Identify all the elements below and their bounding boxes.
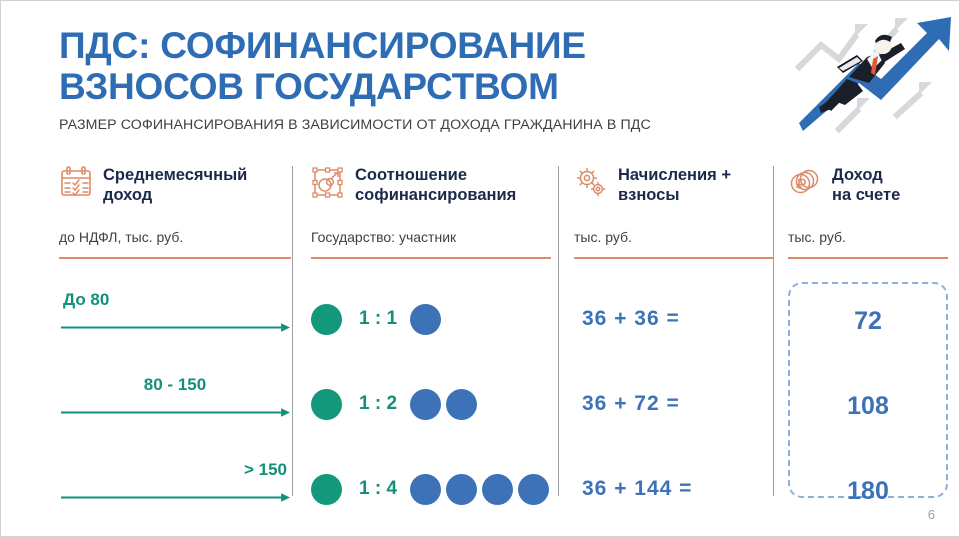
- balance-value: 108: [847, 392, 889, 421]
- balance-value: 72: [854, 307, 882, 336]
- column-balance-title: Доход на счете: [832, 164, 900, 205]
- column-divider-1: [292, 166, 293, 496]
- businessman-on-rising-arrow-illustration: [793, 7, 953, 133]
- column-ratio-header: Соотношение софинансирования: [311, 164, 551, 220]
- column-income-header: Среднемесячный доход: [59, 164, 291, 220]
- column-ratio-rule: [311, 257, 551, 259]
- ratio-label: 1 : 4: [359, 478, 397, 500]
- table-row: 80 - 150: [59, 367, 291, 441]
- contribution-sum: 36 + 36 =: [582, 307, 680, 331]
- income-arrow-icon: [61, 490, 291, 501]
- state-share-dot: [311, 389, 342, 420]
- column-balance-rule: [788, 257, 948, 259]
- column-contributions-header: Начисления + взносы: [574, 164, 774, 220]
- page-number: 6: [928, 507, 935, 522]
- cofinancing-ratio-icon: [311, 165, 345, 199]
- page-title: ПДС: СОФИНАНСИРОВАНИЕ ВЗНОСОВ ГОСУДАРСТВ…: [59, 25, 749, 108]
- state-share-dot: [311, 304, 342, 335]
- participant-share-dot: [410, 304, 441, 335]
- column-contributions: Начисления + взносы тыс. руб. 36 + 36 = …: [574, 164, 774, 498]
- table-row: 36 + 144 =: [574, 452, 774, 526]
- participant-share-dot: [446, 474, 477, 505]
- column-income: Среднемесячный доход до НДФЛ, тыс. руб. …: [59, 164, 291, 498]
- participant-share-dot: [410, 389, 441, 420]
- slide: ПДС: СОФИНАНСИРОВАНИЕ ВЗНОСОВ ГОСУДАРСТВ…: [0, 0, 960, 537]
- income-range-label: > 150: [244, 460, 287, 480]
- participant-share-dot: [446, 389, 477, 420]
- table-row: 1 : 1: [311, 282, 551, 356]
- contribution-sum: 36 + 72 =: [582, 392, 680, 416]
- column-balance-header: Доход на счете: [788, 164, 948, 220]
- column-income-subtitle: до НДФЛ, тыс. руб.: [59, 229, 291, 245]
- ratio-label: 1 : 1: [359, 308, 397, 330]
- income-arrow-icon: [61, 405, 291, 416]
- table-row: До 80: [59, 282, 291, 356]
- column-ratio-subtitle: Государство: участник: [311, 229, 551, 245]
- page-subtitle: РАЗМЕР СОФИНАНСИРОВАНИЯ В ЗАВИСИМОСТИ ОТ…: [59, 117, 749, 133]
- calendar-checklist-icon: [59, 165, 93, 199]
- column-balance-subtitle: тыс. руб.: [788, 229, 948, 245]
- column-contributions-rows: 36 + 36 = 36 + 72 = 36 + 144 =: [574, 274, 774, 498]
- column-income-rule: [59, 257, 291, 259]
- table-row: 36 + 72 =: [574, 367, 774, 441]
- column-balance: Доход на счете тыс. руб. 72 108 180: [788, 164, 948, 498]
- balance-value: 180: [847, 477, 889, 506]
- column-income-rows: До 80 80 - 150: [59, 274, 291, 498]
- table-row: 1 : 4: [311, 452, 551, 526]
- table-row: > 150: [59, 452, 291, 526]
- column-divider-2: [558, 166, 559, 496]
- participant-share-dot: [482, 474, 513, 505]
- participant-share-dots: [410, 389, 477, 420]
- column-ratio-title: Соотношение софинансирования: [355, 164, 516, 205]
- contribution-sum: 36 + 144 =: [582, 477, 692, 501]
- gears-icon: [574, 165, 608, 199]
- table-row: 72: [790, 284, 946, 358]
- comparison-table: Среднемесячный доход до НДФЛ, тыс. руб. …: [1, 164, 960, 498]
- ratio-label: 1 : 2: [359, 393, 397, 415]
- table-row: 36 + 36 =: [574, 282, 774, 356]
- column-income-title: Среднемесячный доход: [103, 164, 247, 205]
- column-ratio: Соотношение софинансирования Государство…: [311, 164, 551, 498]
- column-contributions-rule: [574, 257, 774, 259]
- table-row: 180: [790, 454, 946, 528]
- table-row: 1 : 2: [311, 367, 551, 441]
- title-block: ПДС: СОФИНАНСИРОВАНИЕ ВЗНОСОВ ГОСУДАРСТВ…: [59, 25, 749, 133]
- participant-share-dot: [410, 474, 441, 505]
- participant-share-dots: [410, 304, 441, 335]
- column-ratio-rows: 1 : 1 1 : 2: [311, 274, 551, 498]
- participant-share-dot: [518, 474, 549, 505]
- state-share-dot: [311, 474, 342, 505]
- income-range-label: 80 - 150: [144, 375, 206, 395]
- income-range-label: До 80: [63, 290, 109, 310]
- income-arrow-icon: [61, 320, 291, 331]
- table-row: 108: [790, 369, 946, 443]
- participant-share-dots: [410, 474, 549, 505]
- balance-result-box: 72 108 180: [788, 282, 948, 498]
- ruble-coins-icon: [788, 165, 822, 199]
- column-contributions-title: Начисления + взносы: [618, 164, 731, 205]
- column-contributions-subtitle: тыс. руб.: [574, 229, 774, 245]
